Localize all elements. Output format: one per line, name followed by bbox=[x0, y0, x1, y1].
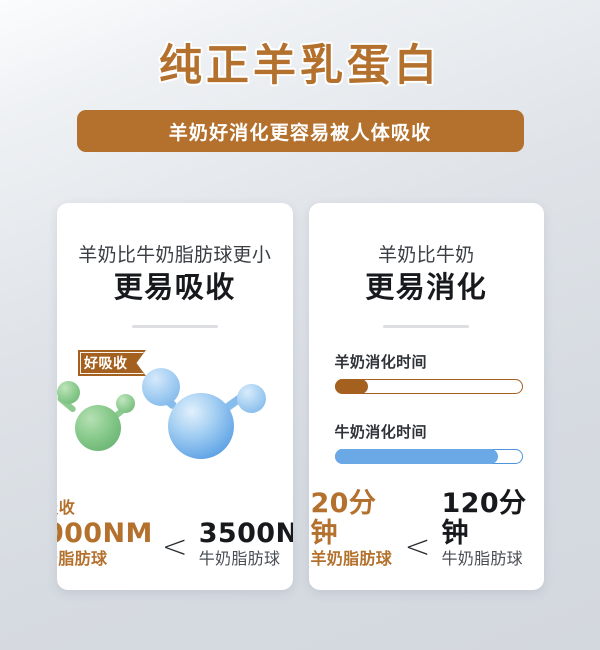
digestion-comparison: 20分钟 羊奶脂肪球 < 120分钟 牛奶脂肪球 bbox=[309, 489, 545, 570]
molecule-illustration bbox=[57, 363, 293, 493]
comparison-left-tag: 好吸收 bbox=[57, 498, 153, 519]
comparison-right-label: 牛奶脂肪球 bbox=[441, 549, 544, 570]
goat-fat-globule-icon bbox=[57, 381, 80, 404]
comparison-left: 好吸收 2000NM 羊奶脂肪球 bbox=[57, 498, 153, 570]
comparison-right: 120分钟 牛奶脂肪球 bbox=[439, 489, 544, 570]
comparison-right-value: 3500NM bbox=[199, 519, 293, 549]
comparison-left-label: 羊奶脂肪球 bbox=[311, 549, 396, 570]
comparison-right-label: 牛奶脂肪球 bbox=[199, 549, 293, 570]
bar-cow-milk-track bbox=[335, 449, 523, 464]
page-title: 纯正羊乳蛋白 bbox=[0, 40, 600, 92]
divider bbox=[383, 325, 469, 328]
goat-fat-globule-icon bbox=[75, 405, 121, 451]
card-absorption-subtitle: 羊奶比牛奶脂肪球更小 bbox=[57, 243, 293, 268]
bar-goat-milk-fill bbox=[335, 379, 368, 394]
cow-fat-globule-icon bbox=[168, 393, 234, 459]
comparison-left: 20分钟 羊奶脂肪球 bbox=[309, 489, 396, 570]
page-header: 纯正羊乳蛋白 羊奶好消化更容易被人体吸收 bbox=[0, 0, 600, 152]
card-digestion-title: 更易消化 bbox=[309, 269, 545, 307]
bar-goat-milk-track bbox=[335, 379, 523, 394]
bar-cow-milk-fill bbox=[335, 449, 499, 464]
subtitle-text: 羊奶好消化更容易被人体吸收 bbox=[169, 118, 432, 145]
comparison-left-label: 羊奶脂肪球 bbox=[57, 549, 153, 570]
comparison-right-value: 120分钟 bbox=[441, 489, 544, 549]
bar-goat-milk-label: 羊奶消化时间 bbox=[335, 351, 523, 372]
bar-goat-milk: 羊奶消化时间 bbox=[335, 351, 523, 394]
digestion-time-chart: 羊奶消化时间 牛奶消化时间 bbox=[335, 351, 523, 464]
comparison-right: 3500NM 牛奶脂肪球 bbox=[197, 519, 293, 570]
less-than-icon: < bbox=[405, 532, 431, 563]
card-absorption-title: 更易吸收 bbox=[57, 269, 293, 307]
subtitle-banner: 羊奶好消化更容易被人体吸收 bbox=[77, 110, 524, 152]
card-absorption-header: 羊奶比牛奶脂肪球更小 更易吸收 bbox=[57, 203, 293, 328]
bar-cow-milk: 牛奶消化时间 bbox=[335, 421, 523, 464]
comparison-left-value: 2000NM bbox=[57, 519, 153, 549]
card-digestion-subtitle: 羊奶比牛奶 bbox=[309, 243, 545, 268]
comparison-left-value: 20分钟 bbox=[311, 489, 396, 549]
goat-fat-globule-icon bbox=[116, 394, 135, 413]
cow-fat-globule-icon bbox=[237, 384, 266, 413]
bar-cow-milk-label: 牛奶消化时间 bbox=[335, 421, 523, 442]
card-digestion: 羊奶比牛奶 更易消化 羊奶消化时间 牛奶消化时间 20分钟 羊奶脂肪球 bbox=[309, 203, 545, 590]
divider bbox=[132, 325, 218, 328]
less-than-icon: < bbox=[162, 532, 188, 563]
card-digestion-header: 羊奶比牛奶 更易消化 bbox=[309, 203, 545, 328]
absorption-comparison: 好吸收 2000NM 羊奶脂肪球 < 3500NM 牛奶脂肪球 bbox=[57, 498, 293, 570]
card-absorption: 羊奶比牛奶脂肪球更小 更易吸收 好吸收 好吸收 2000NM 羊奶脂肪球 < bbox=[57, 203, 293, 590]
cow-fat-globule-icon bbox=[142, 368, 180, 406]
feature-cards: 羊奶比牛奶脂肪球更小 更易吸收 好吸收 好吸收 2000NM 羊奶脂肪球 < bbox=[57, 203, 544, 590]
